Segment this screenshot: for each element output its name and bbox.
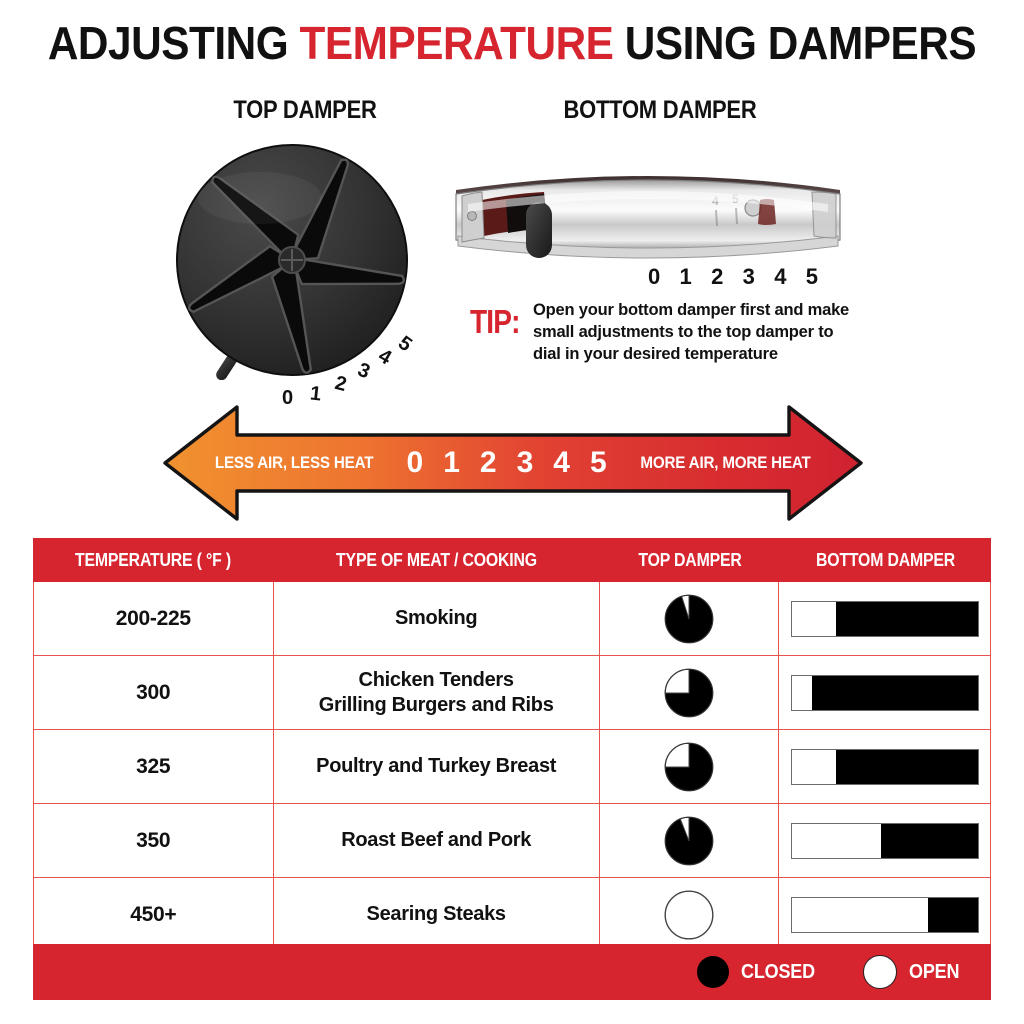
- temperature-value: 325: [136, 755, 170, 779]
- cell-temperature: 300: [34, 656, 274, 729]
- cell-bottom-damper: [779, 730, 990, 803]
- cell-top-damper: [600, 878, 780, 951]
- top-damper-heading: TOP DAMPER: [177, 96, 432, 125]
- meat-type-value: Smoking: [387, 606, 485, 630]
- bottom-damper-closed-fill: [881, 824, 978, 858]
- bottom-damper-tick-4: 4: [774, 264, 786, 292]
- temperature-value: 350: [136, 829, 170, 853]
- cell-meat-type: Roast Beef and Pork: [274, 804, 600, 877]
- column-header-top-damper: TOP DAMPER: [611, 550, 769, 571]
- bottom-damper-closed-fill: [836, 602, 977, 636]
- bottom-damper-scale-numbers: 0 1 2 3 4 5: [648, 264, 818, 292]
- table-row: 450+Searing Steaks: [34, 878, 990, 951]
- tip-text: Open your bottom damper first and make s…: [533, 300, 863, 366]
- cell-top-damper: [600, 730, 780, 803]
- open-dot-icon: [863, 955, 897, 989]
- cell-meat-type: Chicken TendersGrilling Burgers and Ribs: [274, 656, 600, 729]
- bottom-damper-indicator-icon: [791, 675, 979, 711]
- title-part-2: USING DAMPERS: [613, 17, 976, 69]
- tip-label: TIP:: [470, 303, 520, 341]
- temperature-value: 450+: [130, 903, 176, 927]
- cell-top-damper: [600, 656, 780, 729]
- legend-item-closed: CLOSED: [697, 956, 823, 988]
- cell-meat-type: Searing Steaks: [274, 878, 600, 951]
- top-damper-tick-2: 2: [332, 372, 348, 397]
- top-damper-indicator-icon: [664, 816, 714, 866]
- top-damper-tick-5: 5: [393, 332, 416, 357]
- bottom-damper-closed-fill: [836, 750, 977, 784]
- bottom-damper-tick-1: 1: [680, 264, 692, 292]
- closed-dot-icon: [697, 956, 729, 988]
- cell-meat-type: Smoking: [274, 582, 600, 655]
- bottom-damper-illustration: 4 5: [448, 160, 848, 270]
- tip-block: TIP: Open your bottom damper first and m…: [470, 300, 870, 380]
- legend-bar: CLOSED OPEN: [33, 944, 991, 1000]
- top-damper-scale-numbers: 0 1 2 3 4 5: [282, 335, 452, 410]
- top-damper-indicator-icon: [664, 594, 714, 644]
- bottom-damper-indicator-icon: [791, 601, 979, 637]
- top-damper-indicator-icon: [664, 742, 714, 792]
- bottom-damper-tick-5: 5: [806, 264, 818, 292]
- cell-temperature: 450+: [34, 878, 274, 951]
- cell-meat-type: Poultry and Turkey Breast: [274, 730, 600, 803]
- cell-temperature: 325: [34, 730, 274, 803]
- bottom-damper-indicator-icon: [791, 823, 979, 859]
- bottom-damper-heading: BOTTOM DAMPER: [519, 96, 801, 125]
- bottom-damper-tick-0: 0: [648, 264, 660, 292]
- meat-type-value: Searing Steaks: [359, 902, 514, 926]
- cell-top-damper: [600, 804, 780, 877]
- legend-item-open: OPEN: [863, 955, 965, 989]
- meat-type-value: Poultry and Turkey Breast: [308, 754, 564, 778]
- table-row: 350Roast Beef and Pork: [34, 804, 990, 878]
- title-highlight: TEMPERATURE: [300, 17, 614, 69]
- meat-type-value: Roast Beef and Pork: [333, 828, 539, 852]
- airflow-arrow: [163, 404, 863, 522]
- table-row: 300Chicken TendersGrilling Burgers and R…: [34, 656, 990, 730]
- cell-temperature: 200-225: [34, 582, 274, 655]
- cell-bottom-damper: [779, 878, 990, 951]
- table-header-row: TEMPERATURE ( °F ) TYPE OF MEAT / COOKIN…: [33, 538, 991, 582]
- bottom-damper-tick-2: 2: [711, 264, 723, 292]
- bottom-damper-closed-fill: [812, 676, 978, 710]
- legend-closed-label: CLOSED: [741, 961, 815, 984]
- top-damper-indicator-icon: [664, 668, 714, 718]
- temperature-value: 200-225: [116, 607, 191, 631]
- damper-settings-table: TEMPERATURE ( °F ) TYPE OF MEAT / COOKIN…: [33, 538, 991, 1000]
- cell-temperature: 350: [34, 804, 274, 877]
- bottom-damper-closed-fill: [928, 898, 978, 932]
- temperature-value: 300: [136, 681, 170, 705]
- page-title: ADJUSTING TEMPERATURE USING DAMPERS: [41, 16, 983, 70]
- bottom-damper-indicator-icon: [791, 749, 979, 785]
- table-row: 200-225Smoking: [34, 582, 990, 656]
- bottom-damper-band-icon: 4 5: [448, 160, 848, 270]
- infographic-page: ADJUSTING TEMPERATURE USING DAMPERS TOP …: [0, 0, 1024, 1024]
- top-damper-tick-4: 4: [374, 345, 395, 370]
- bottom-damper-indicator-icon: [791, 897, 979, 933]
- column-header-bottom-damper: BOTTOM DAMPER: [793, 550, 979, 571]
- table-body: 200-225Smoking300Chicken TendersGrilling…: [33, 582, 991, 952]
- title-part-1: ADJUSTING: [48, 17, 300, 69]
- column-header-temperature: TEMPERATURE ( °F ): [47, 550, 258, 571]
- table-row: 325Poultry and Turkey Breast: [34, 730, 990, 804]
- cell-bottom-damper: [779, 804, 990, 877]
- cell-bottom-damper: [779, 582, 990, 655]
- legend-open-label: OPEN: [909, 961, 959, 984]
- top-damper-tick-1: 1: [309, 382, 322, 406]
- cell-top-damper: [600, 582, 780, 655]
- meat-type-value: Chicken TendersGrilling Burgers and Ribs: [311, 668, 562, 717]
- column-header-meat: TYPE OF MEAT / COOKING: [293, 550, 581, 571]
- top-damper-illustration: 0 1 2 3 4 5: [172, 140, 452, 410]
- top-damper-tick-3: 3: [354, 359, 373, 384]
- top-damper-indicator-icon: [664, 890, 714, 940]
- cell-bottom-damper: [779, 656, 990, 729]
- bottom-damper-tick-3: 3: [743, 264, 755, 292]
